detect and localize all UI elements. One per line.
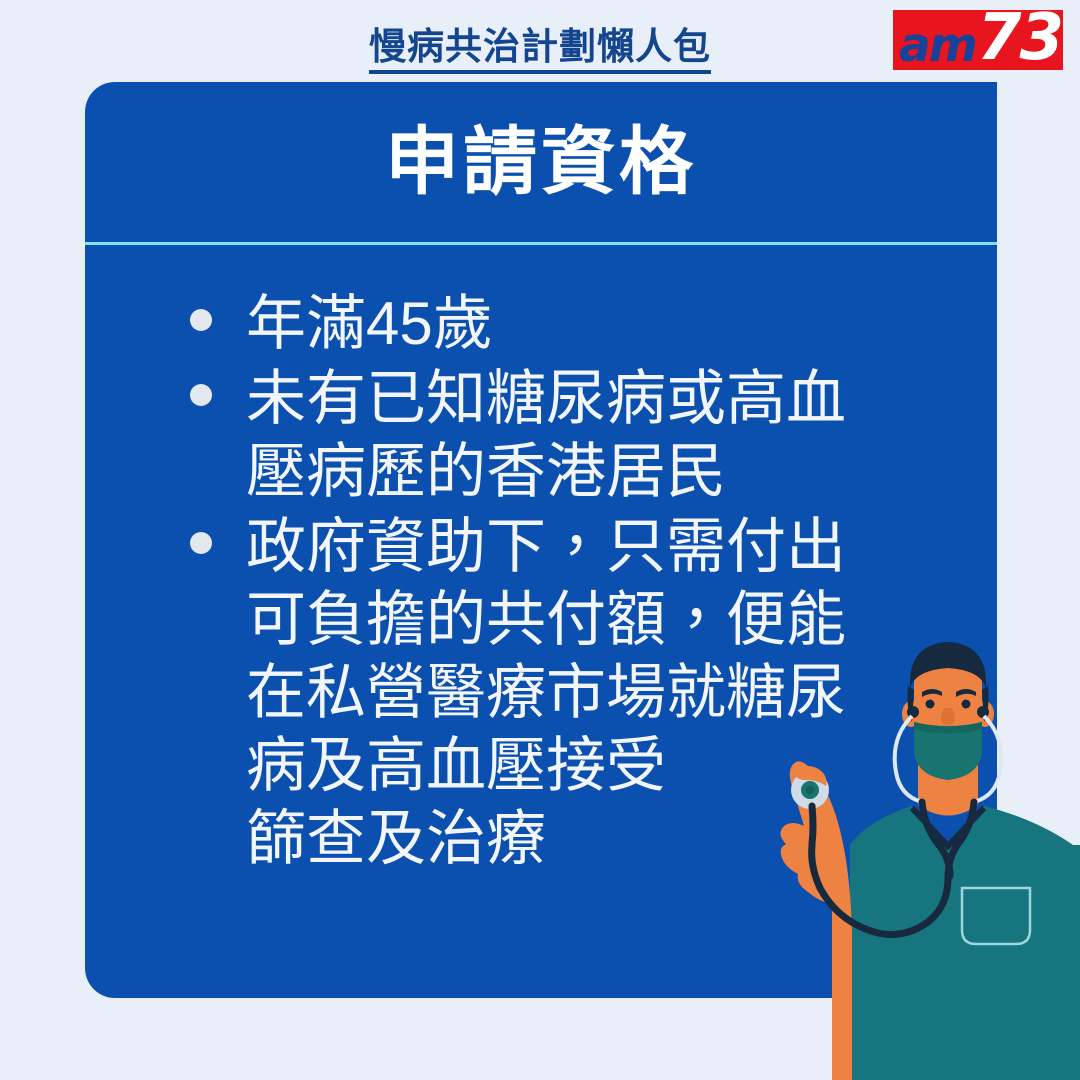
infographic-canvas: 申請資格 年滿45歲 未有已知糖尿病或高血 壓病歷的香港居民 政府資助下，只需付… [0,0,1080,1080]
list-item-label: 未有已知糖尿病或高血 壓病歷的香港居民 [246,362,1000,508]
list-item: 未有已知糖尿病或高血 壓病歷的香港居民 [190,362,1000,508]
list-item-label: 年滿45歲 [246,287,1000,360]
page-title-text: 慢病共治計劃懶人包 [369,26,711,74]
bullet-dot-icon [190,384,212,406]
logo-am-text: am [899,24,976,68]
heading-divider [85,242,997,245]
am730-logo: am 730 [893,10,1063,70]
doctor-illustration [700,630,1080,1080]
logo-730-text: 730 [977,10,1063,70]
bullet-dot-icon [190,532,212,554]
bullet-dot-icon [190,309,212,331]
list-item: 年滿45歲 [190,287,1000,360]
card-heading: 申請資格 [85,120,997,204]
